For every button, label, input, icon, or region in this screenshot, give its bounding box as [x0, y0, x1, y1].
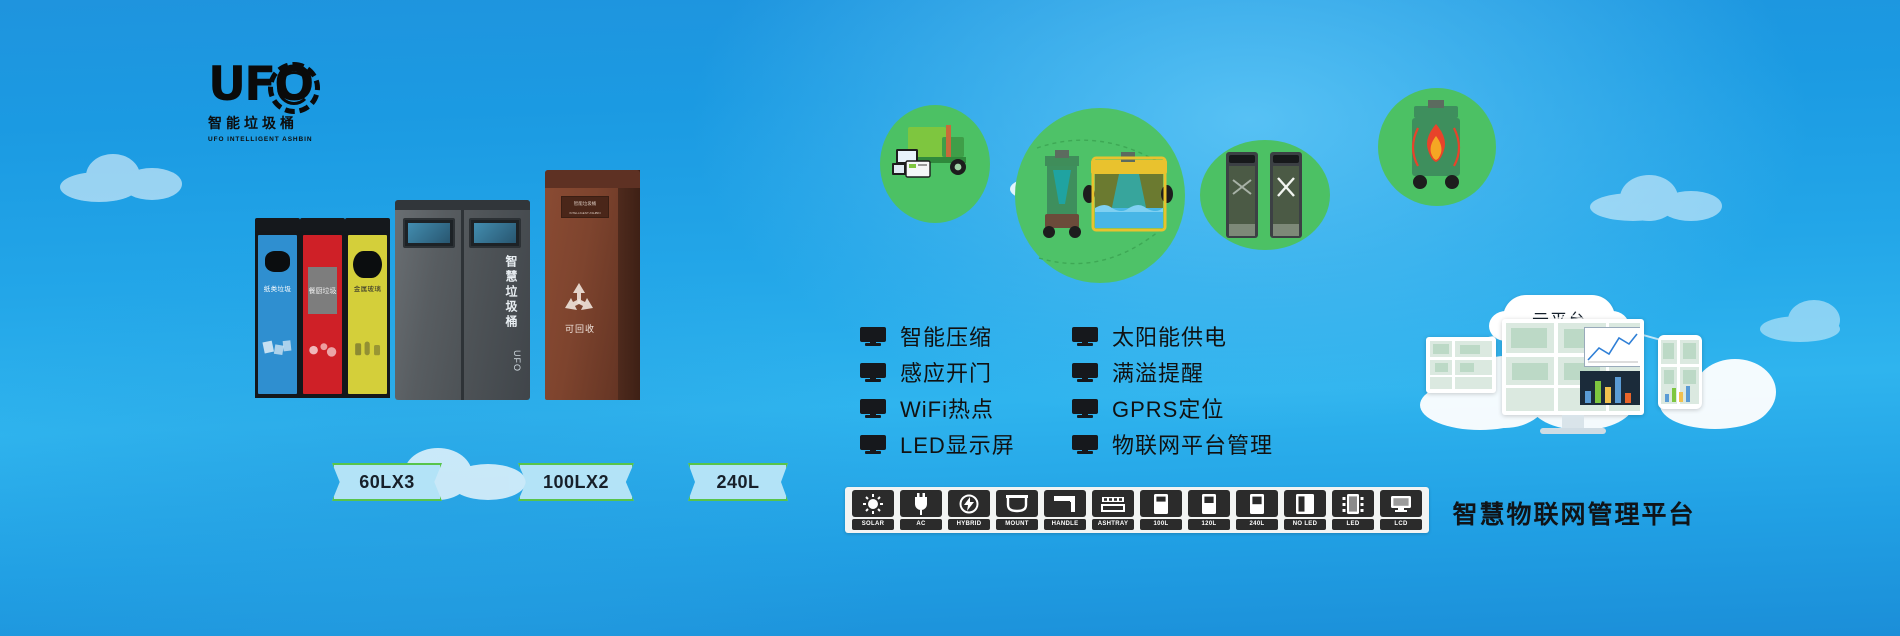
phone-screen: [1661, 340, 1699, 404]
spec-label: LED: [1332, 519, 1374, 530]
bin-slot-icon: [353, 251, 381, 278]
feature-column-right: 太阳能供电 满溢提醒 GPRS定位 物联网平台管理: [1072, 318, 1273, 462]
capacity-label: 60LX3: [359, 472, 415, 493]
feature-item: 智能压缩: [860, 318, 1015, 354]
led-icon: [1332, 490, 1374, 517]
sun-icon: [852, 490, 894, 517]
bin-panel: 纸类垃圾: [258, 235, 297, 394]
bin-compartment-kitchen: 餐厨垃圾: [300, 218, 345, 398]
logo-inner-ring-icon: [277, 71, 311, 105]
feature-label: LED显示屏: [900, 428, 1015, 460]
bin-recycle-label: 可回收: [545, 322, 615, 335]
bin-window-right: [469, 218, 521, 248]
map-view: [1430, 341, 1492, 389]
bin-side-panel: [618, 170, 640, 400]
spec-label: MOUNT: [996, 519, 1038, 530]
bin-side-text: 智慧垃圾桶: [503, 255, 520, 330]
feature-column-left: 智能压缩 感应开门 WiFi热点 LED显示屏: [860, 318, 1015, 462]
logo-name-cn: 智能垃圾桶: [208, 113, 318, 133]
feature-item: 感应开门: [860, 354, 1015, 390]
spec-label: HYBRID: [948, 519, 990, 530]
monitor-icon: [860, 399, 886, 417]
spec-label: HANDLE: [1044, 519, 1086, 530]
bin-panel: 餐厨垃圾: [303, 235, 342, 394]
capacity-label: 100LX2: [543, 472, 609, 493]
bin-compartment-label: 餐厨垃圾: [308, 267, 338, 315]
bin-body: 纸类垃圾: [255, 231, 300, 398]
spec-label: LCD: [1380, 519, 1422, 530]
bin-slot-icon: [265, 251, 290, 272]
handle-icon: [1044, 490, 1086, 517]
mount-icon: [996, 490, 1038, 517]
bin-compartment-paper: 纸类垃圾: [255, 218, 300, 398]
hybrid-bolt-icon: [948, 490, 990, 517]
double-compartment-bin: 智慧垃圾桶 UFO: [395, 200, 530, 400]
spec-item-240l: 240L: [1236, 490, 1278, 530]
bin-hood: [255, 218, 300, 232]
bin-fire-alarm-icon: [1378, 88, 1496, 206]
kitchen-waste-illustration: [305, 311, 339, 384]
spec-item-handle: HANDLE: [1044, 490, 1086, 530]
feature-label: 智能压缩: [900, 320, 992, 352]
spec-label: SOLAR: [852, 519, 894, 530]
spec-item-solar: SOLAR: [852, 490, 894, 530]
bin-body: 金属玻璃: [345, 231, 390, 398]
feature-circle-fire-alarm: [1378, 88, 1496, 206]
bin-side-brand: UFO: [512, 350, 522, 372]
feature-item: 物联网平台管理: [1072, 426, 1273, 462]
lcd-icon: [1380, 490, 1422, 517]
brand-logo: UFO 智能垃圾桶 UFO INTELLIGENT ASHBIN: [208, 58, 318, 150]
feature-circle-fleet-dispatch: [880, 105, 990, 223]
spec-item-led: LED: [1332, 490, 1374, 530]
bin-window-left: [403, 218, 455, 248]
monitor-stand: [1562, 415, 1584, 429]
feature-label: 满溢提醒: [1112, 356, 1204, 388]
feature-circle-compaction: [1015, 108, 1185, 283]
bin-body: 餐厨垃圾: [300, 231, 345, 398]
spec-label: 240L: [1236, 519, 1278, 530]
feature-item: 太阳能供电: [1072, 318, 1273, 354]
spec-option-strip: SOLAR AC HYBRID MOUNT HANDLE: [845, 487, 1429, 533]
monitor-icon: [1072, 435, 1098, 453]
bin-screen-line-1: 智能垃圾桶: [562, 197, 608, 207]
feature-item: 满溢提醒: [1072, 354, 1273, 390]
bin-100l-icon: [1140, 490, 1182, 517]
feature-item: WiFi热点: [860, 390, 1015, 426]
feature-label: 感应开门: [900, 356, 992, 388]
compaction-transfer-icon: [1015, 108, 1185, 283]
logo-name-en: UFO INTELLIGENT ASHBIN: [208, 136, 318, 143]
spec-label: ASHTRAY: [1092, 519, 1134, 530]
bin-hood: [345, 218, 390, 232]
bin-divider: [461, 210, 464, 400]
platform-title: 智慧物联网管理平台: [1424, 495, 1724, 531]
twin-smart-bins-icon: [1200, 140, 1330, 250]
no-led-icon: [1284, 490, 1326, 517]
single-bin: 智能垃圾桶 INTELLIGENT ASHBIN 可回收: [545, 170, 640, 400]
spec-item-120l: 120L: [1188, 490, 1230, 530]
spec-item-mount: MOUNT: [996, 490, 1038, 530]
paper-waste-illustration: [260, 311, 294, 384]
smartphone-device: [1658, 335, 1702, 409]
bin-240l-icon: [1236, 490, 1278, 517]
capacity-banner-100lx2: 100LX2: [518, 463, 634, 501]
bin-top-cap: [395, 200, 530, 210]
marketing-banner: UFO 智能垃圾桶 UFO INTELLIGENT ASHBIN 纸类垃圾: [0, 0, 1900, 636]
bin-compartment-label: 金属玻璃: [348, 283, 387, 293]
capacity-banner-60lx3: 60LX3: [332, 463, 442, 501]
tablet-device: [1426, 337, 1496, 393]
monitor-base: [1540, 428, 1606, 434]
monitor-screen: [1506, 323, 1640, 411]
spec-label: NO LED: [1284, 519, 1326, 530]
feature-circle-twin-bins: [1200, 140, 1330, 250]
capacity-banner-240l: 240L: [688, 463, 788, 501]
monitor-icon: [1072, 327, 1098, 345]
feature-item: LED显示屏: [860, 426, 1015, 462]
spec-item-hybrid: HYBRID: [948, 490, 990, 530]
bin-compartment-metal-glass: 金属玻璃: [345, 218, 390, 398]
feature-label: WiFi热点: [900, 392, 994, 424]
monitor-icon: [860, 363, 886, 381]
spec-item-ac: AC: [900, 490, 942, 530]
bin-top-cap: [545, 170, 640, 188]
capacity-label: 240L: [716, 472, 759, 493]
bin-panel: 金属玻璃: [348, 235, 387, 394]
spec-label: 120L: [1188, 519, 1230, 530]
map-view: [1661, 340, 1699, 404]
feature-label: 物联网平台管理: [1112, 428, 1273, 460]
spec-item-100l: 100L: [1140, 490, 1182, 530]
triple-compartment-bin: 纸类垃圾 餐厨垃圾: [255, 218, 390, 398]
bin-display-screen: 智能垃圾桶 INTELLIGENT ASHBIN: [561, 196, 609, 218]
monitor-icon: [860, 327, 886, 345]
map-view: [1506, 323, 1640, 411]
iot-platform-devices: [1420, 285, 1750, 485]
spec-item-no-led: NO LED: [1284, 490, 1326, 530]
recycle-icon: [559, 278, 599, 318]
feature-label: 太阳能供电: [1112, 320, 1227, 352]
spec-item-ashtray: ASHTRAY: [1092, 490, 1134, 530]
bin-screen-line-2: INTELLIGENT ASHBIN: [562, 207, 608, 217]
bin-window-glass: [474, 223, 516, 243]
monitor-icon: [1072, 363, 1098, 381]
spec-item-lcd: LCD: [1380, 490, 1422, 530]
monitor-icon: [860, 435, 886, 453]
bin-120l-icon: [1188, 490, 1230, 517]
spec-label: AC: [900, 519, 942, 530]
monitor-icon: [1072, 399, 1098, 417]
line-chart-thumbnail: [1585, 328, 1640, 366]
fleet-dispatch-icon: [880, 105, 990, 223]
metal-glass-waste-illustration: [350, 311, 384, 384]
plug-icon: [900, 490, 942, 517]
bin-compartment-label: 纸类垃圾: [258, 283, 297, 293]
feature-label: GPRS定位: [1112, 392, 1224, 424]
tablet-screen: [1430, 341, 1492, 389]
bin-window-glass: [408, 223, 450, 243]
spec-label: 100L: [1140, 519, 1182, 530]
desktop-monitor: [1502, 319, 1644, 415]
bin-hood: [300, 218, 345, 232]
ashtray-icon: [1092, 490, 1134, 517]
feature-item: GPRS定位: [1072, 390, 1273, 426]
